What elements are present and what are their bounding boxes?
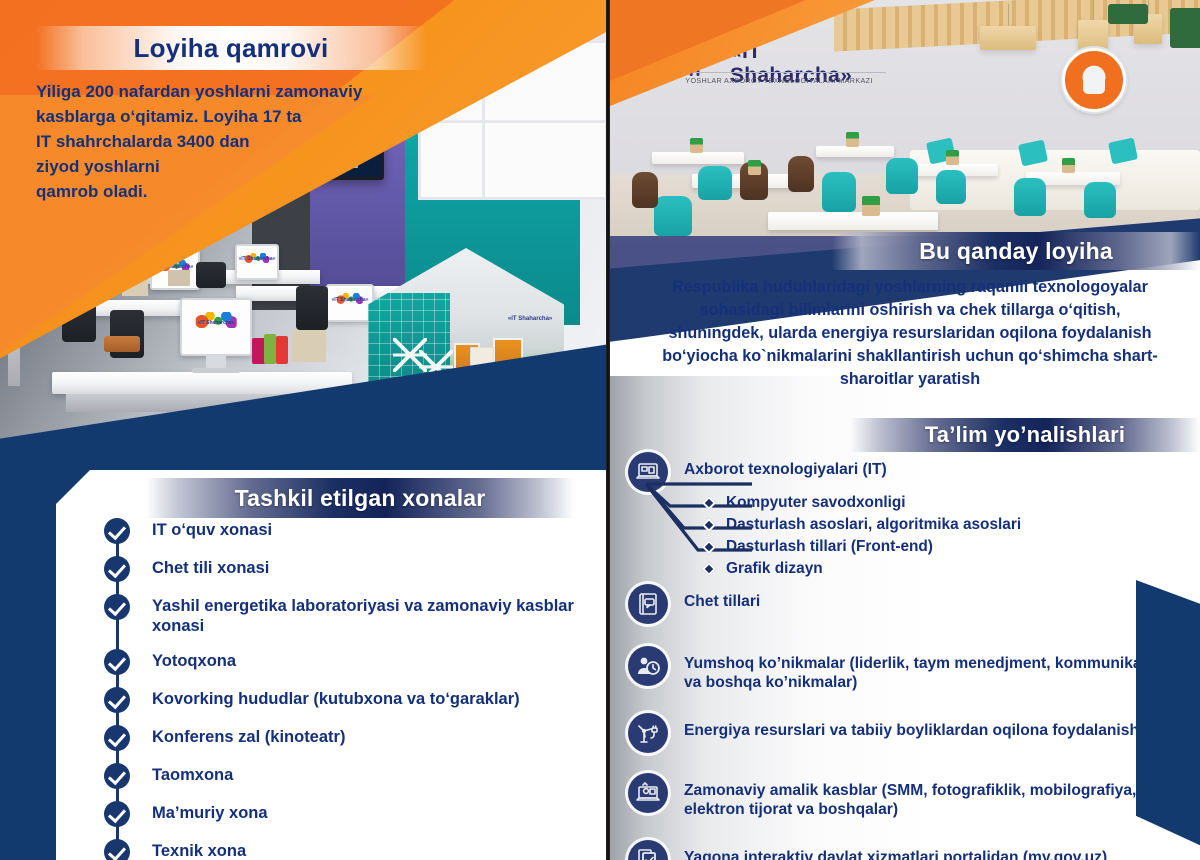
direction-label: Energiya resurslari va tabiiy boyliklard… (684, 713, 1139, 740)
diamond-bullet-icon (702, 518, 716, 532)
direction-label: Yagona interaktiv davlat xizmatlari port… (684, 840, 1194, 860)
banner-directions-label: Ta’lim yo’nalishlari (925, 422, 1125, 448)
left-panel: «IT Shaharcha» «IT Shaharcha» «IT Shahar… (0, 0, 606, 860)
direction-list-item: Zamonaviy amalik kasblar (SMM, fotografi… (628, 773, 1194, 820)
direction-list-item: Energiya resurslari va tabiiy boyliklard… (628, 713, 1194, 753)
banner-bu-qanday-loyiha: Bu qanday loyiha (832, 232, 1200, 270)
laptop-media-icon (628, 773, 668, 813)
wind-turbine-plug-icon (628, 713, 668, 753)
room-list-item: IT o‘quv xonasi (104, 518, 584, 544)
banner-loyiha-qamrovi-label: Loyiha qamrovi (134, 33, 329, 64)
room-list-item: Chet tili xonasi (104, 556, 584, 582)
room-list-item: Texnik xona (104, 839, 584, 860)
room-label: Yotoqxona (152, 649, 236, 672)
person-clock-icon (628, 646, 668, 686)
it-subitem-label: Dasturlash tillari (Front-end) (726, 538, 933, 556)
check-icon (104, 801, 130, 827)
infographic-poster: «IT Shaharcha» «IT Shaharcha» «IT Shahar… (0, 0, 1200, 860)
check-icon (104, 839, 130, 860)
intro-line: qamrob oladi. (36, 180, 426, 205)
check-icon (104, 594, 130, 620)
room-label: Ma’muriy xona (152, 801, 268, 824)
direction-list-item: Chet tillari (628, 584, 1194, 624)
project-description: Respublika huduhlaridagi yoshlarning raq… (650, 276, 1170, 391)
room-label: Taomxona (152, 763, 233, 786)
intro-line: Yiliga 200 nafardan yoshlarni zamonaviy (36, 80, 426, 105)
check-icon (104, 518, 130, 544)
it-subitem: Kompyuter savodxonligi (700, 492, 1170, 514)
chef-emblem (1062, 48, 1126, 112)
room-list-item: Ma’muriy xona (104, 801, 584, 827)
it-subitem: Grafik dizayn (700, 558, 1170, 580)
it-subitem-label: Grafik dizayn (726, 560, 823, 578)
direction-label: Axborot texnologiyalari (IT) (684, 452, 887, 479)
right-panel: «IT Shaharcha» YOSHLAR AXBOROT TEXNOLOGI… (610, 0, 1200, 860)
book-speech-icon (628, 584, 668, 624)
banner-project-label: Bu qanday loyiha (919, 238, 1113, 265)
room-label: Yashil energetika laboratoriyasi va zamo… (152, 594, 584, 637)
laptop-icon (628, 452, 668, 492)
direction-list-item: my.gov.uzYagona interaktiv davlat xizmat… (628, 840, 1194, 860)
diamond-bullet-icon (702, 562, 716, 576)
it-subitem: Dasturlash asoslari, algoritmika asoslar… (700, 514, 1170, 536)
it-subitem: Dasturlash tillari (Front-end) (700, 536, 1170, 558)
room-list-item: Yotoqxona (104, 649, 584, 675)
room-label: Kovorking hududlar (kutubxona va to‘gara… (152, 687, 520, 710)
rooms-list: IT o‘quv xonasiChet tili xonasiYashil en… (104, 518, 584, 860)
direction-list-item: Axborot texnologiyalari (IT) (628, 452, 1194, 492)
documents-check-icon: my.gov.uz (628, 840, 668, 860)
direction-label: Yumshoq ko’nikmalar (liderlik, taym mene… (684, 646, 1194, 693)
it-subitem-label: Dasturlash asoslari, algoritmika asoslar… (726, 516, 1021, 534)
room-label: Texnik xona (152, 839, 246, 860)
banner-loyiha-qamrovi: Loyiha qamrovi (36, 26, 426, 70)
check-icon (104, 763, 130, 789)
room-list-item: Kovorking hududlar (kutubxona va to‘gara… (104, 687, 584, 713)
banner-talim-yonalishlari: Ta’lim yo’nalishlari (850, 418, 1200, 452)
intro-paragraph: Yiliga 200 nafardan yoshlarni zamonaviy … (36, 80, 426, 205)
it-subitem-label: Kompyuter savodxonligi (726, 494, 906, 512)
intro-line: ziyod yoshlarni (36, 155, 426, 180)
hex-logo: «IT Shaharcha» (508, 316, 552, 322)
direction-label: Chet tillari (684, 584, 760, 611)
banner-tashkil-etilgan-xonalar: Tashkil etilgan xonalar (146, 478, 574, 518)
check-icon (104, 556, 130, 582)
check-icon (104, 649, 130, 675)
room-list-item: Konferens zal (kinoteatr) (104, 725, 584, 751)
check-icon (104, 725, 130, 751)
diamond-bullet-icon (702, 540, 716, 554)
room-label: Chet tili xonasi (152, 556, 269, 579)
room-list-item: Yashil energetika laboratoriyasi va zamo… (104, 594, 584, 637)
intro-line: kasblarga o‘qitamiz. Loyiha 17 ta (36, 105, 426, 130)
direction-list-item: Yumshoq ko’nikmalar (liderlik, taym mene… (628, 646, 1194, 693)
direction-label: Zamonaviy amalik kasblar (SMM, fotografi… (684, 773, 1194, 820)
brochure-spine (606, 0, 610, 860)
banner-rooms-label: Tashkil etilgan xonalar (235, 485, 486, 512)
intro-line: IT shahrchalarda 3400 dan (36, 130, 426, 155)
wall-logo-subtitle: YOSHLAR AXBOROT TEXNOLOGIYALARI MARKAZI (672, 72, 886, 85)
room-list-item: Taomxona (104, 763, 584, 789)
room-label: IT o‘quv xonasi (152, 518, 272, 541)
it-subitems-list: Kompyuter savodxonligiDasturlash asoslar… (700, 492, 1170, 580)
check-icon (104, 687, 130, 713)
room-label: Konferens zal (kinoteatr) (152, 725, 345, 748)
diamond-bullet-icon (702, 496, 716, 510)
